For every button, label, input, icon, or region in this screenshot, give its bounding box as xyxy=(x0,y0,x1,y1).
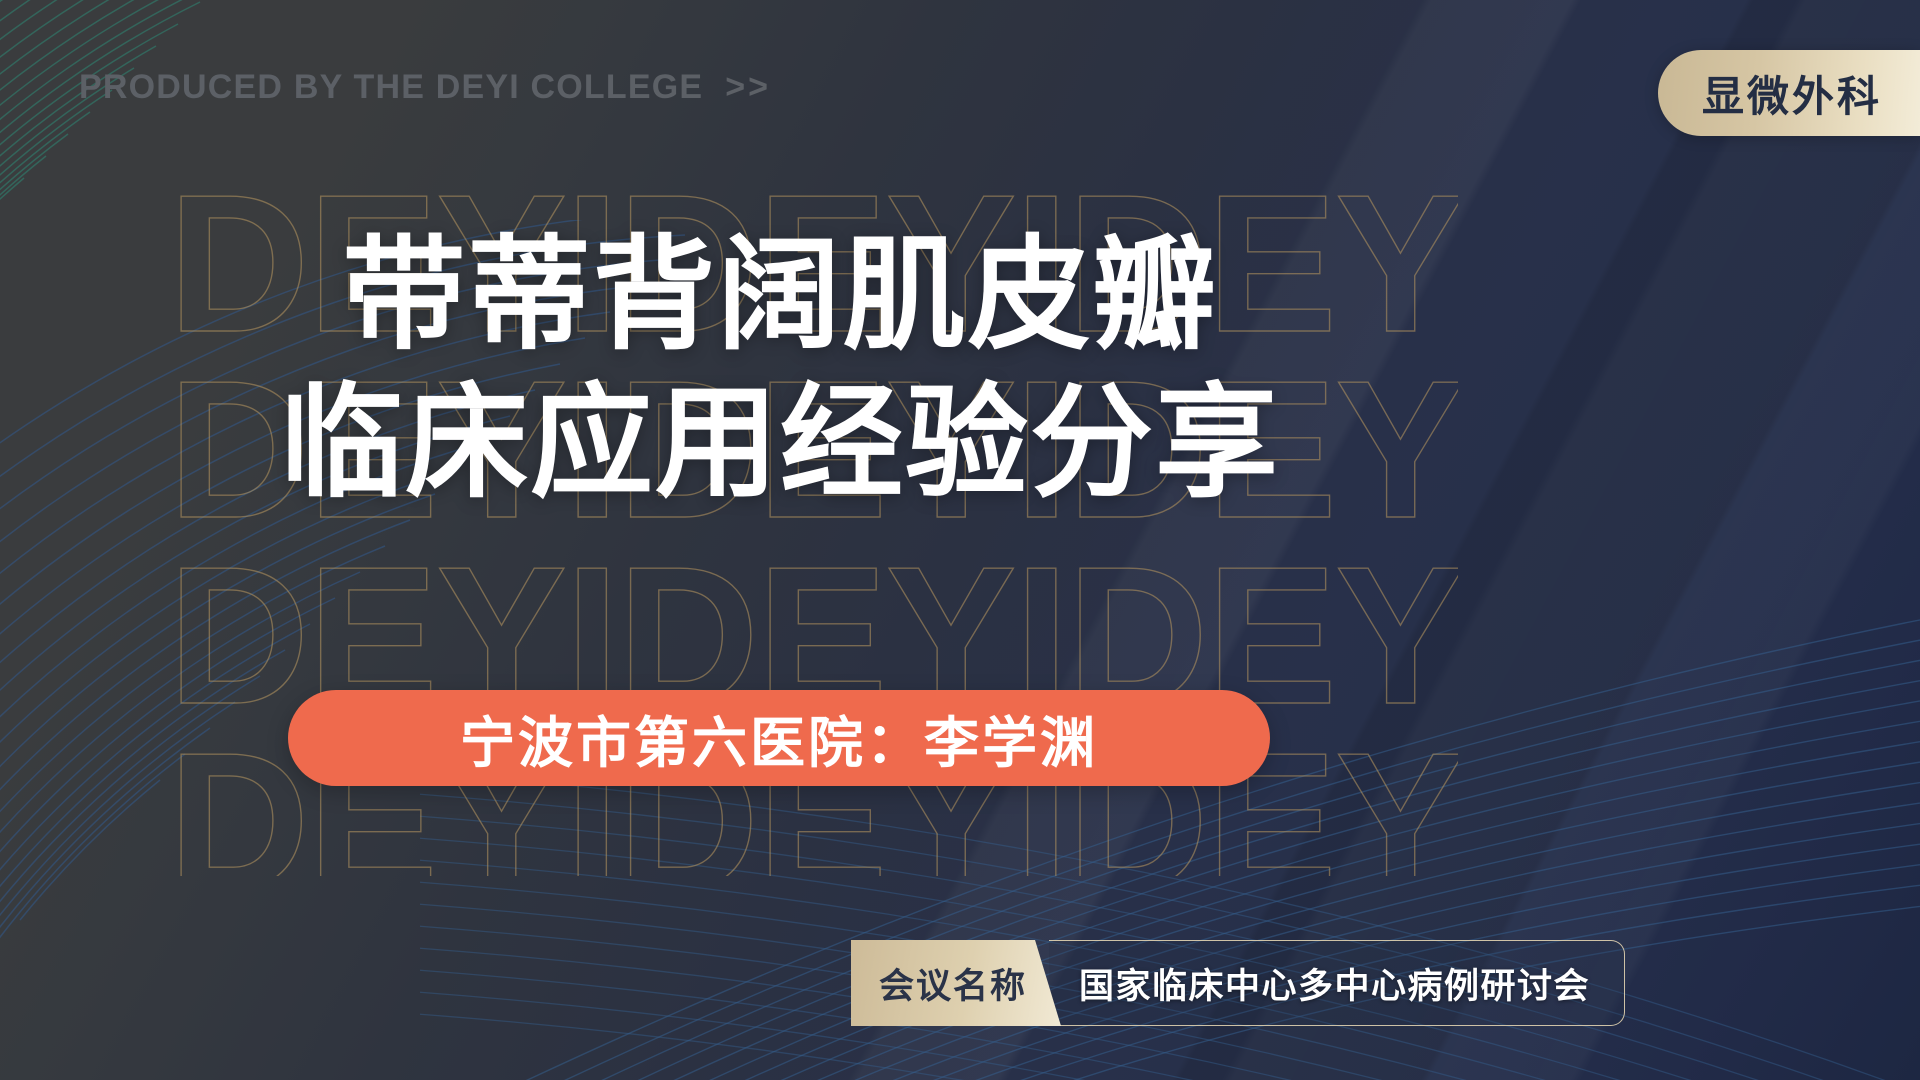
slide-canvas: DEYIDEYIDEYI DEYIDEYIDEYI DEYIDEYIDEYI D… xyxy=(0,0,1920,1080)
meeting-name-text: 国家临床中心多中心病例研讨会 xyxy=(1079,958,1590,1009)
page-title: 带蒂背阔肌皮瓣 临床应用经验分享 xyxy=(0,222,1560,518)
meeting-name-tag-label: 会议名称 xyxy=(879,958,1027,1009)
producer-label: PRODUCED BY THE DEYI COLLEGE xyxy=(79,68,703,107)
department-badge-label: 显微外科 xyxy=(1702,63,1882,124)
department-badge: 显微外科 xyxy=(1658,50,1920,136)
meeting-name-value: 国家临床中心多中心病例研讨会 xyxy=(1049,940,1625,1026)
speaker-label: 宁波市第六医院：李学渊 xyxy=(460,698,1098,778)
title-line-2: 临床应用经验分享 xyxy=(0,370,1560,518)
title-line-1: 带蒂背阔肌皮瓣 xyxy=(0,222,1560,370)
speaker-pill: 宁波市第六医院：李学渊 xyxy=(288,690,1270,786)
producer-eyebrow: PRODUCED BY THE DEYI COLLEGE >> xyxy=(79,68,771,107)
meeting-name-bar: 会议名称 国家临床中心多中心病例研讨会 xyxy=(851,940,1625,1026)
double-chevron-right-icon: >> xyxy=(725,68,771,107)
meeting-name-tag: 会议名称 xyxy=(851,940,1061,1026)
